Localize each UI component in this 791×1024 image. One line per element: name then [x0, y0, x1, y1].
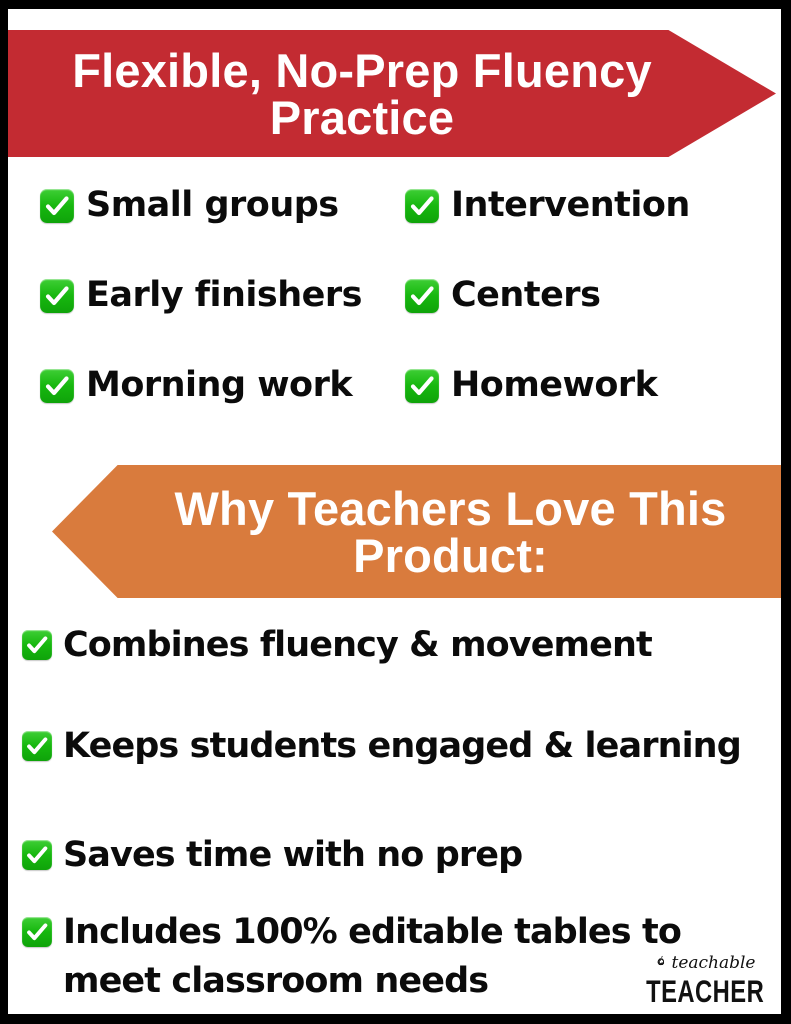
- benefit-label: Includes 100% editable tables to meet cl…: [63, 908, 742, 1006]
- brand-script-text: teachable: [671, 955, 755, 972]
- poster-canvas: Flexible, No-Prep Fluency Practice Small…: [8, 9, 781, 1014]
- use-case-label: Early finishers: [86, 276, 362, 314]
- use-case-item-small-groups: Small groups: [40, 186, 339, 224]
- benefit-item-saves-time: Saves time with no prep: [22, 831, 742, 880]
- banner-red-title: Flexible, No-Prep Fluency Practice: [8, 47, 776, 141]
- benefit-item-editable-tables: Includes 100% editable tables to meet cl…: [22, 908, 742, 1006]
- use-case-item-centers: Centers: [405, 276, 600, 314]
- benefit-item-combines-fluency: Combines fluency & movement: [22, 621, 742, 670]
- green-check-icon: [22, 630, 52, 660]
- use-case-label: Homework: [451, 366, 657, 404]
- benefit-item-keeps-students-engaged: Keeps students engaged & learning: [22, 722, 742, 771]
- use-case-item-morning-work: Morning work: [40, 366, 352, 404]
- use-case-list: Small groups Intervention Early finisher…: [8, 164, 781, 454]
- green-check-icon: [405, 369, 439, 403]
- use-case-label: Morning work: [86, 366, 352, 404]
- green-check-icon: [22, 917, 52, 947]
- benefit-label: Combines fluency & movement: [63, 621, 652, 670]
- apple-icon: [654, 955, 668, 972]
- green-check-icon: [22, 731, 52, 761]
- green-check-icon: [22, 840, 52, 870]
- brand-block-text: TEACHER: [646, 977, 764, 1008]
- benefit-label: Keeps students engaged & learning: [63, 722, 741, 771]
- green-check-icon: [40, 189, 74, 223]
- banner-red-arrow: Flexible, No-Prep Fluency Practice: [8, 30, 776, 157]
- benefit-label: Saves time with no prep: [63, 831, 522, 880]
- use-case-item-homework: Homework: [405, 366, 657, 404]
- banner-orange-arrow: Why Teachers Love This Product:: [52, 465, 781, 598]
- banner-orange-title: Why Teachers Love This Product:: [52, 485, 781, 579]
- green-check-icon: [40, 369, 74, 403]
- use-case-item-early-finishers: Early finishers: [40, 276, 362, 314]
- use-case-label: Small groups: [86, 186, 339, 224]
- green-check-icon: [405, 189, 439, 223]
- use-case-label: Intervention: [451, 186, 690, 224]
- green-check-icon: [40, 279, 74, 313]
- brand-logo: teachable TEACHER: [643, 952, 767, 1002]
- poster-root: Flexible, No-Prep Fluency Practice Small…: [0, 0, 791, 1024]
- use-case-item-intervention: Intervention: [405, 186, 690, 224]
- brand-logo-top: teachable: [643, 952, 767, 974]
- use-case-label: Centers: [451, 276, 600, 314]
- green-check-icon: [405, 279, 439, 313]
